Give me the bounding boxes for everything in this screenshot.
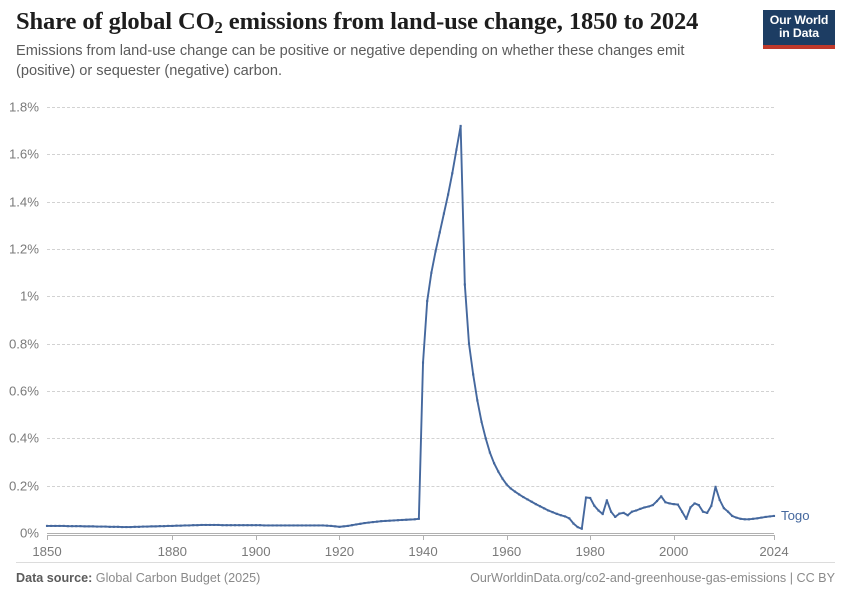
data-point[interactable] <box>384 520 386 522</box>
data-point[interactable] <box>63 525 65 527</box>
data-point[interactable] <box>389 520 391 522</box>
data-point[interactable] <box>748 518 750 520</box>
data-point[interactable] <box>238 524 240 526</box>
data-source-value: Global Carbon Budget (2025) <box>92 571 260 585</box>
x-tick-label: 1900 <box>241 544 270 559</box>
x-tick-label: 1920 <box>325 544 354 559</box>
x-axis-line <box>47 535 774 536</box>
data-point[interactable] <box>556 513 558 515</box>
owid-logo-line2: in Data <box>768 27 830 40</box>
data-point[interactable] <box>292 524 294 526</box>
attribution-link[interactable]: OurWorldinData.org/co2-and-greenhouse-ga… <box>470 571 835 585</box>
data-point[interactable] <box>526 498 528 500</box>
data-point[interactable] <box>639 508 641 510</box>
title-prefix: Share of global CO <box>16 8 215 35</box>
data-point[interactable] <box>773 515 775 517</box>
data-point[interactable] <box>656 500 658 502</box>
data-point[interactable] <box>146 526 148 528</box>
data-point[interactable] <box>117 526 119 528</box>
data-point[interactable] <box>109 526 111 528</box>
data-point[interactable] <box>522 496 524 498</box>
data-point[interactable] <box>355 523 357 525</box>
data-point[interactable] <box>50 525 52 527</box>
data-point[interactable] <box>163 525 165 527</box>
data-point[interactable] <box>284 524 286 526</box>
x-tick <box>774 535 775 540</box>
data-point[interactable] <box>514 491 516 493</box>
data-point[interactable] <box>740 518 742 520</box>
data-source-label: Data source: <box>16 571 92 585</box>
data-point[interactable] <box>414 518 416 520</box>
data-point[interactable] <box>451 172 453 174</box>
data-point[interactable] <box>531 501 533 503</box>
data-point[interactable] <box>652 504 654 506</box>
data-point[interactable] <box>180 525 182 527</box>
x-tick <box>423 535 424 540</box>
data-point[interactable] <box>368 522 370 524</box>
data-point[interactable] <box>343 525 345 527</box>
data-point[interactable] <box>464 283 466 285</box>
x-tick <box>172 535 173 540</box>
data-point[interactable] <box>710 505 712 507</box>
data-point[interactable] <box>75 525 77 527</box>
data-point[interactable] <box>167 525 169 527</box>
data-point[interactable] <box>673 503 675 505</box>
data-point[interactable] <box>192 524 194 526</box>
data-point[interactable] <box>602 513 604 515</box>
data-point[interactable] <box>468 343 470 345</box>
data-point[interactable] <box>577 526 579 528</box>
data-point[interactable] <box>669 502 671 504</box>
data-point[interactable] <box>518 493 520 495</box>
data-point[interactable] <box>301 524 303 526</box>
data-point[interactable] <box>543 507 545 509</box>
data-source: Data source: Global Carbon Budget (2025) <box>16 571 260 585</box>
data-point[interactable] <box>213 524 215 526</box>
data-point[interactable] <box>614 516 616 518</box>
data-point[interactable] <box>221 524 223 526</box>
chart-header: Share of global CO2 emissions from land-… <box>16 8 756 81</box>
data-point[interactable] <box>485 437 487 439</box>
data-point[interactable] <box>351 524 353 526</box>
data-point[interactable] <box>610 511 612 513</box>
x-tick-label: 1940 <box>408 544 437 559</box>
data-point[interactable] <box>552 511 554 513</box>
data-point[interactable] <box>765 516 767 518</box>
data-point[interactable] <box>184 524 186 526</box>
data-point[interactable] <box>405 519 407 521</box>
data-point[interactable] <box>234 524 236 526</box>
data-point[interactable] <box>731 515 733 517</box>
data-point[interactable] <box>664 501 666 503</box>
x-tick-label: 2024 <box>759 544 788 559</box>
data-point[interactable] <box>96 526 98 528</box>
data-point[interactable] <box>698 504 700 506</box>
data-point[interactable] <box>121 526 123 528</box>
data-point[interactable] <box>155 525 157 527</box>
data-point[interactable] <box>259 524 261 526</box>
data-point[interactable] <box>113 526 115 528</box>
data-point[interactable] <box>171 525 173 527</box>
data-point[interactable] <box>255 524 257 526</box>
data-point[interactable] <box>585 496 587 498</box>
x-tick-label: 1960 <box>492 544 521 559</box>
data-point[interactable] <box>660 495 662 497</box>
data-point[interactable] <box>606 499 608 501</box>
data-point[interactable] <box>100 526 102 528</box>
data-point[interactable] <box>769 515 771 517</box>
data-point[interactable] <box>506 483 508 485</box>
data-point[interactable] <box>313 524 315 526</box>
data-point[interactable] <box>397 519 399 521</box>
data-point[interactable] <box>363 522 365 524</box>
data-point[interactable] <box>46 525 48 527</box>
data-point[interactable] <box>439 231 441 233</box>
data-point[interactable] <box>480 421 482 423</box>
data-point[interactable] <box>685 518 687 520</box>
data-point[interactable] <box>493 462 495 464</box>
data-point[interactable] <box>510 487 512 489</box>
data-point[interactable] <box>539 505 541 507</box>
data-point[interactable] <box>288 524 290 526</box>
series-layer <box>0 96 850 556</box>
data-point[interactable] <box>88 525 90 527</box>
data-point[interactable] <box>138 526 140 528</box>
data-point[interactable] <box>267 524 269 526</box>
data-point[interactable] <box>627 514 629 516</box>
data-point[interactable] <box>230 524 232 526</box>
data-point[interactable] <box>455 149 457 151</box>
owid-logo[interactable]: Our World in Data <box>763 10 835 49</box>
data-point[interactable] <box>372 521 374 523</box>
data-point[interactable] <box>497 470 499 472</box>
data-point[interactable] <box>247 524 249 526</box>
data-point[interactable] <box>272 524 274 526</box>
data-point[interactable] <box>150 525 152 527</box>
data-point[interactable] <box>226 524 228 526</box>
data-point[interactable] <box>297 524 299 526</box>
data-point[interactable] <box>597 509 599 511</box>
data-point[interactable] <box>572 522 574 524</box>
data-point[interactable] <box>568 517 570 519</box>
data-point[interactable] <box>359 523 361 525</box>
chart-footer: Data source: Global Carbon Budget (2025)… <box>16 562 835 584</box>
data-point[interactable] <box>380 520 382 522</box>
data-point[interactable] <box>426 300 428 302</box>
data-point[interactable] <box>305 524 307 526</box>
x-tick <box>256 535 257 540</box>
data-point[interactable] <box>217 524 219 526</box>
x-tick <box>47 535 48 540</box>
data-point[interactable] <box>706 512 708 514</box>
data-point[interactable] <box>188 524 190 526</box>
data-point[interactable] <box>735 517 737 519</box>
data-point[interactable] <box>134 526 136 528</box>
x-tick <box>674 535 675 540</box>
data-point[interactable] <box>276 524 278 526</box>
data-point[interactable] <box>744 518 746 520</box>
plot-area[interactable]: 0%0.2%0.4%0.6%0.8%1%1.2%1.4%1.6%1.8% 185… <box>0 96 850 556</box>
data-point[interactable] <box>205 524 207 526</box>
data-point[interactable] <box>79 525 81 527</box>
data-point[interactable] <box>618 513 620 515</box>
data-point[interactable] <box>322 524 324 526</box>
data-point[interactable] <box>330 525 332 527</box>
data-point[interactable] <box>752 518 754 520</box>
title-subscript: 2 <box>215 18 223 37</box>
data-point[interactable] <box>681 511 683 513</box>
data-point[interactable] <box>67 525 69 527</box>
data-point[interactable] <box>209 524 211 526</box>
data-point[interactable] <box>130 526 132 528</box>
data-point[interactable] <box>714 486 716 488</box>
data-point[interactable] <box>489 451 491 453</box>
data-point[interactable] <box>694 502 696 504</box>
data-point[interactable] <box>418 518 420 520</box>
data-point[interactable] <box>460 125 462 127</box>
data-point[interactable] <box>401 519 403 521</box>
data-point[interactable] <box>175 525 177 527</box>
data-point[interactable] <box>581 528 583 530</box>
data-point[interactable] <box>326 525 328 527</box>
data-point[interactable] <box>318 524 320 526</box>
data-point[interactable] <box>376 521 378 523</box>
data-point[interactable] <box>309 524 311 526</box>
data-point[interactable] <box>623 512 625 514</box>
data-point[interactable] <box>338 526 340 528</box>
data-point[interactable] <box>476 399 478 401</box>
data-point[interactable] <box>727 511 729 513</box>
data-point[interactable] <box>447 194 449 196</box>
data-point[interactable] <box>422 362 424 364</box>
data-point[interactable] <box>54 525 56 527</box>
data-point[interactable] <box>677 504 679 506</box>
x-tick-label: 2000 <box>659 544 688 559</box>
data-point[interactable] <box>84 525 86 527</box>
data-point[interactable] <box>196 524 198 526</box>
data-point[interactable] <box>635 509 637 511</box>
data-point[interactable] <box>242 524 244 526</box>
data-point[interactable] <box>472 373 474 375</box>
x-tick <box>590 535 591 540</box>
data-point[interactable] <box>756 517 758 519</box>
data-point[interactable] <box>251 524 253 526</box>
data-point[interactable] <box>430 272 432 274</box>
data-point[interactable] <box>564 515 566 517</box>
series-line-togo <box>47 126 774 529</box>
data-point[interactable] <box>159 525 161 527</box>
data-point[interactable] <box>689 506 691 508</box>
data-point[interactable] <box>593 505 595 507</box>
data-point[interactable] <box>547 509 549 511</box>
data-point[interactable] <box>643 506 645 508</box>
data-point[interactable] <box>760 517 762 519</box>
data-point[interactable] <box>560 514 562 516</box>
data-point[interactable] <box>125 526 127 528</box>
data-point[interactable] <box>702 511 704 513</box>
data-point[interactable] <box>723 507 725 509</box>
data-point[interactable] <box>263 524 265 526</box>
data-point[interactable] <box>142 526 144 528</box>
data-point[interactable] <box>104 526 106 528</box>
chart-root: Share of global CO2 emissions from land-… <box>0 0 850 600</box>
data-point[interactable] <box>334 525 336 527</box>
data-point[interactable] <box>589 497 591 499</box>
data-point[interactable] <box>535 503 537 505</box>
data-point[interactable] <box>58 525 60 527</box>
title-suffix: emissions from land-use change, 1850 to … <box>223 8 699 35</box>
page-title: Share of global CO2 emissions from land-… <box>16 8 756 35</box>
data-point[interactable] <box>719 499 721 501</box>
data-point[interactable] <box>631 511 633 513</box>
data-point[interactable] <box>409 518 411 520</box>
x-tick <box>339 535 340 540</box>
x-tick-label: 1880 <box>158 544 187 559</box>
x-tick-label: 1980 <box>575 544 604 559</box>
data-point[interactable] <box>201 524 203 526</box>
chart-subtitle: Emissions from land-use change can be po… <box>16 42 706 81</box>
series-label-togo[interactable]: Togo <box>781 508 810 523</box>
data-point[interactable] <box>443 212 445 214</box>
owid-logo-line1: Our World <box>768 14 830 27</box>
data-point[interactable] <box>501 478 503 480</box>
x-tick-label: 1850 <box>32 544 61 559</box>
data-point[interactable] <box>648 505 650 507</box>
x-tick <box>507 535 508 540</box>
data-point[interactable] <box>347 525 349 527</box>
data-point[interactable] <box>92 525 94 527</box>
data-point[interactable] <box>71 525 73 527</box>
data-point[interactable] <box>435 250 437 252</box>
data-point[interactable] <box>393 519 395 521</box>
data-point[interactable] <box>280 524 282 526</box>
